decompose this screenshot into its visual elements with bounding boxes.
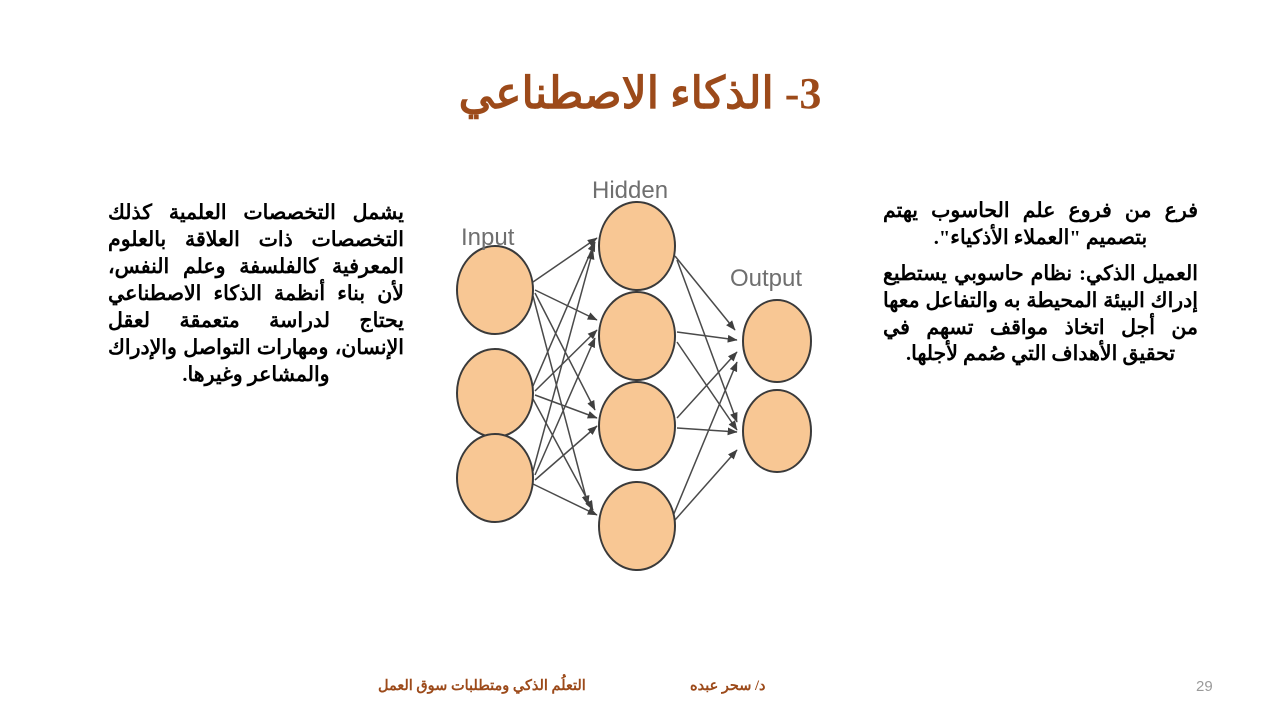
nn-edges-hidden-to-output [673, 256, 737, 520]
input-node-1 [457, 246, 533, 334]
input-node-2 [457, 349, 533, 437]
footer-course-title: التعلُم الذكي ومتطلبات سوق العمل [378, 678, 586, 695]
output-layer-label: Output [730, 265, 802, 292]
hidden-layer-label: Hidden [592, 177, 668, 204]
hidden-node-4 [599, 482, 675, 570]
nn-input-nodes [457, 246, 533, 522]
right-paragraph-1: فرع من فروع علم الحاسوب يهتم بتصميم "الع… [883, 198, 1198, 251]
nn-output-nodes [743, 300, 811, 472]
page-title: 3- الذكاء الاصطناعي [0, 70, 1280, 118]
nn-hidden-nodes [599, 202, 675, 570]
hidden-node-1 [599, 202, 675, 290]
output-node-1 [743, 300, 811, 382]
input-node-3 [457, 434, 533, 522]
output-node-2 [743, 390, 811, 472]
right-text-block: فرع من فروع علم الحاسوب يهتم بتصميم "الع… [883, 198, 1198, 368]
left-paragraph-1: يشمل التخصصات العلمية كذلك التخصصات ذات … [108, 200, 404, 389]
nn-edges-input-to-hidden [533, 238, 597, 515]
right-paragraph-2: العميل الذكي: نظام حاسوبي يستطيع إدراك ا… [883, 261, 1198, 368]
footer-author: د/ سحر عبده [690, 678, 765, 695]
page-number: 29 [1196, 678, 1213, 695]
hidden-node-2 [599, 292, 675, 380]
slide-canvas: 3- الذكاء الاصطناعي فرع من فروع علم الحا… [0, 0, 1280, 720]
left-text-block: يشمل التخصصات العلمية كذلك التخصصات ذات … [108, 200, 404, 389]
hidden-node-3 [599, 382, 675, 470]
neural-network-diagram: Input Hidden Output [425, 160, 845, 590]
input-layer-label: Input [461, 224, 515, 251]
